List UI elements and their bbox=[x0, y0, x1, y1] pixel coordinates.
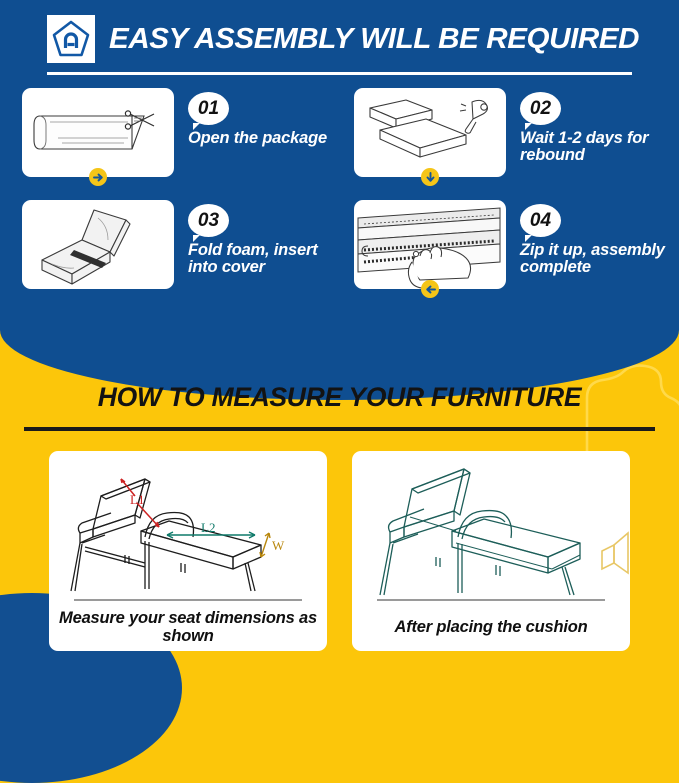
measure-card-caption: Measure your seat dimensions as shown bbox=[49, 601, 327, 651]
step-label: Fold foam, insert into cover bbox=[188, 242, 332, 277]
rolled-package-with-scissors-icon bbox=[22, 88, 174, 177]
two-foam-cushions-with-hairdryer-icon bbox=[354, 88, 506, 177]
step-label: Zip it up, assembly complete bbox=[520, 242, 679, 277]
hand-zipping-cushion-cover-icon bbox=[354, 200, 506, 289]
arrow-down-icon bbox=[421, 168, 439, 186]
step-item-01: 01 Open the package bbox=[0, 88, 332, 200]
measure-card-caption: After placing the cushion bbox=[386, 601, 595, 651]
measure-section-title: HOW TO MEASURE YOUR FURNITURE bbox=[0, 382, 679, 413]
header-divider bbox=[47, 72, 632, 75]
measure-title-divider bbox=[24, 427, 655, 431]
assembly-section: EASY ASSEMBLY WILL BE REQUIRED bbox=[0, 0, 679, 400]
step-02-illustration-card bbox=[354, 88, 506, 177]
measure-card-dimensions: L1 L2 W Measure your seat dimensions as … bbox=[49, 451, 327, 651]
measure-card-cushion: After placing the cushion bbox=[352, 451, 630, 651]
step-01-illustration-card bbox=[22, 88, 174, 177]
step-item-02: 02 Wait 1-2 days for rebound bbox=[332, 88, 679, 200]
arrow-right-icon bbox=[89, 168, 107, 186]
step-04-illustration-card bbox=[354, 200, 506, 289]
step-01-text: 01 Open the package bbox=[188, 88, 327, 147]
step-label: Wait 1-2 days for rebound bbox=[520, 130, 679, 165]
arrow-left-icon bbox=[421, 280, 439, 298]
step-item-04: 04 Zip it up, assembly complete bbox=[332, 200, 679, 312]
folded-foam-into-cover-icon bbox=[22, 200, 174, 289]
step-number-badge: 01 bbox=[188, 92, 229, 125]
page-title: EASY ASSEMBLY WILL BE REQUIRED bbox=[109, 23, 639, 56]
dimension-label-w: W bbox=[272, 538, 285, 553]
step-03-text: 03 Fold foam, insert into cover bbox=[188, 200, 332, 277]
header-bar: EASY ASSEMBLY WILL BE REQUIRED bbox=[0, 8, 679, 70]
step-03-illustration-card bbox=[22, 200, 174, 289]
dimension-label-l2: L2 bbox=[201, 520, 215, 535]
house-a-logo-icon bbox=[47, 15, 95, 63]
step-item-03: 03 Fold foam, insert into cover bbox=[0, 200, 332, 312]
step-number-badge: 02 bbox=[520, 92, 561, 125]
chaise-lounge-frame-with-dimensions-icon: L1 L2 W bbox=[49, 451, 327, 599]
steps-grid: 01 Open the package bbox=[0, 88, 679, 312]
step-number-badge: 03 bbox=[188, 204, 229, 237]
step-label: Open the package bbox=[188, 130, 327, 147]
step-number-badge: 04 bbox=[520, 204, 561, 237]
step-04-text: 04 Zip it up, assembly complete bbox=[520, 200, 679, 277]
dimension-label-l1: L1 bbox=[130, 492, 144, 507]
measure-cards-row: L1 L2 W Measure your seat dimensions as … bbox=[0, 451, 679, 656]
chaise-lounge-with-cushion-icon bbox=[352, 451, 630, 599]
step-02-text: 02 Wait 1-2 days for rebound bbox=[520, 88, 679, 165]
